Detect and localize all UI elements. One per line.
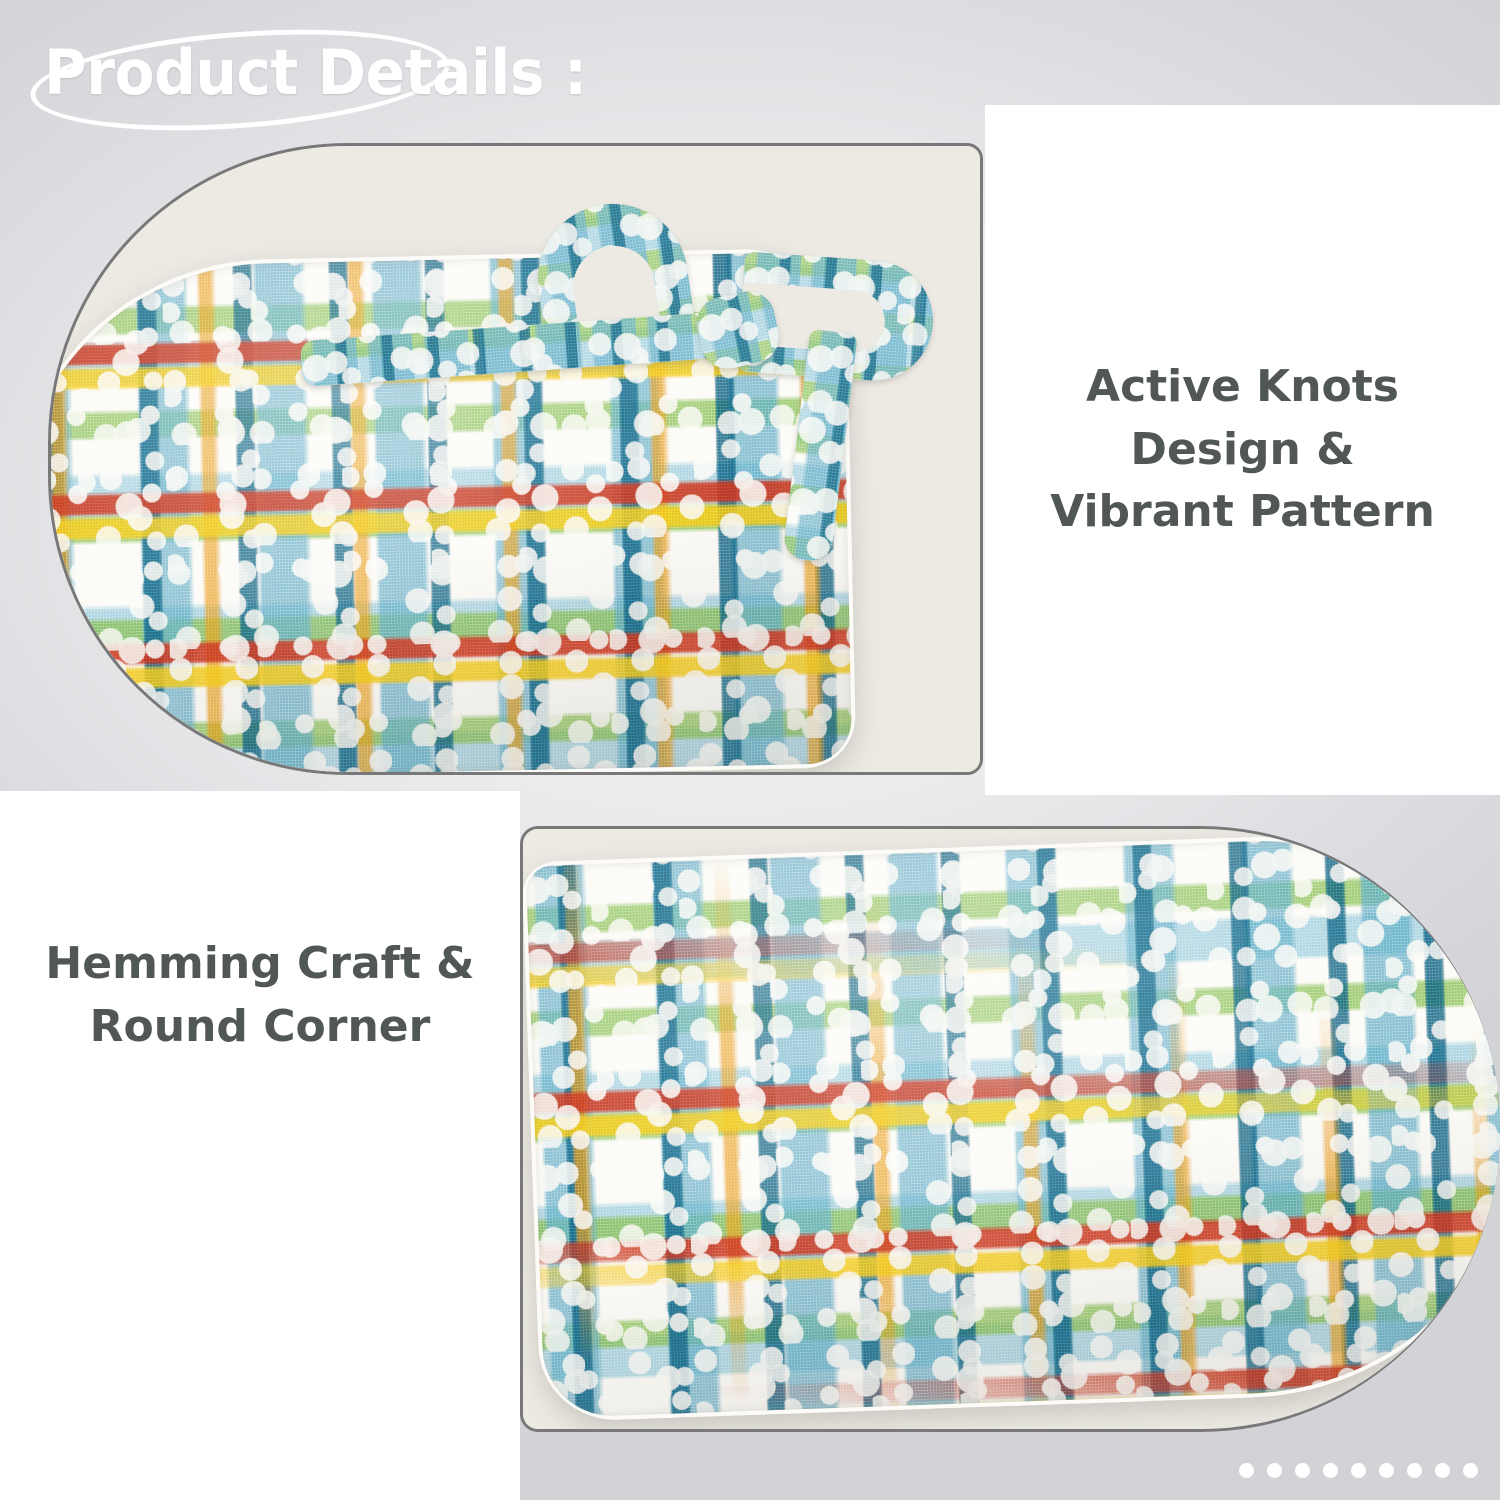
hemming-craft-photo-panel bbox=[520, 826, 1500, 1432]
active-knots-caption: Active Knots Design & Vibrant Pattern bbox=[1028, 356, 1458, 543]
hemming-craft-caption: Hemming Craft & Round Corner bbox=[40, 933, 480, 1358]
page-title: Product Details : bbox=[44, 36, 587, 109]
hemming-craft-caption-panel: Hemming Craft & Round Corner bbox=[0, 791, 520, 1500]
active-knots-photo-panel bbox=[48, 143, 983, 775]
decor-dot bbox=[1463, 1463, 1478, 1478]
decor-dot bbox=[1267, 1463, 1282, 1478]
hemming-craft-caption-line1: Hemming Craft & bbox=[40, 933, 480, 995]
decorative-dot-row bbox=[1239, 1463, 1478, 1478]
cushion-shading bbox=[522, 828, 1500, 1423]
cushion-corner-image bbox=[522, 828, 1500, 1423]
decor-dot bbox=[1323, 1463, 1338, 1478]
decor-dot bbox=[1295, 1463, 1310, 1478]
active-knots-caption-line2: Vibrant Pattern bbox=[1028, 481, 1458, 543]
decor-dot bbox=[1239, 1463, 1254, 1478]
title-ellipse-decoration bbox=[27, 17, 453, 144]
decor-dot bbox=[1435, 1463, 1450, 1478]
decor-dot bbox=[1379, 1463, 1394, 1478]
title-ellipse-decoration-tail bbox=[27, 17, 453, 144]
hemming-craft-caption-line2: Round Corner bbox=[40, 996, 480, 1058]
active-knots-caption-panel: Active Knots Design & Vibrant Pattern bbox=[985, 105, 1500, 795]
active-knots-caption-line1: Active Knots Design & bbox=[1028, 356, 1458, 481]
decor-dot bbox=[1407, 1463, 1422, 1478]
decor-dot bbox=[1351, 1463, 1366, 1478]
